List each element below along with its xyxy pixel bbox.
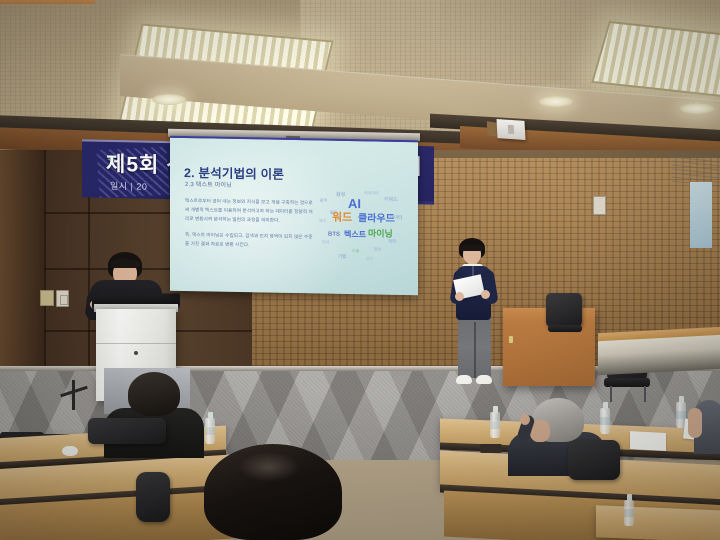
downlight: [152, 94, 186, 105]
air-conditioner-icon: [672, 149, 720, 186]
slide-paragraph-1: 텍스트로부터 얻어 내는 정보와 지식을 보고 개념 구축하는 것으로써 개별적…: [185, 196, 315, 226]
podium-seam: [96, 343, 176, 344]
banner-subtitle: 일시 | 20: [110, 179, 147, 193]
audience-arm: [688, 408, 702, 438]
audience-hand: [520, 414, 530, 425]
mic-stand: [72, 380, 75, 410]
wordcloud-word: 처리: [388, 240, 396, 245]
wall-switch-icon[interactable]: [593, 196, 606, 215]
face-mask: [62, 446, 78, 456]
chair: [136, 472, 170, 522]
wordcloud-word: 감성: [336, 193, 345, 198]
slide-paragraph-2: 즉, 텍스트 마이닝은 수집되고, 검색과 인지 영역이 되지 않은 수준을 가…: [185, 230, 315, 251]
wordcloud-word-primary: 클라우드: [358, 214, 395, 225]
audience-head: [128, 372, 180, 416]
water-bottle: [624, 500, 634, 526]
water-bottle: [205, 418, 215, 444]
chair-seat: [548, 325, 582, 332]
wordcloud-word-primary: BTS: [328, 232, 340, 238]
lecture-hall-photo: ✦ 제5회 신 일시 | 20 제 2. 분석기법의 이론 2.3 텍스트 마이…: [0, 0, 720, 540]
audience-desk: [596, 505, 720, 540]
downlight: [680, 103, 714, 114]
chair: [88, 418, 166, 444]
presenter-hand-right: [481, 290, 490, 299]
wordcloud-word: 언어: [322, 241, 329, 245]
projection-screen: 2. 분석기법의 이론 2.3 텍스트 마이닝 텍스트로부터 얻어 내는 정보와…: [170, 136, 418, 296]
wordcloud-word: 기법: [338, 255, 346, 260]
water-bottle: [490, 412, 500, 438]
wordcloud-word: 빅데이터: [364, 191, 379, 195]
presenter-shoe-left: [456, 375, 472, 384]
wordcloud-word: 추출: [352, 249, 359, 253]
window-column-light: [690, 182, 712, 248]
water-bottle: [600, 408, 610, 434]
phone: [480, 444, 502, 453]
wordcloud-word: 뉴스: [319, 218, 326, 222]
wordcloud-word: 키워드: [384, 198, 398, 203]
slide-wordcloud: 분석 감성 빅데이터 키워드 뉴스 데이터 언어 처리 기법 연구 추출 정보 …: [318, 188, 410, 268]
wordcloud-word: 정보: [374, 247, 381, 251]
wordcloud-word-primary: 텍스트: [344, 231, 366, 239]
paper-sheet: [630, 431, 666, 451]
rear-desk: [598, 335, 720, 376]
slide-subtitle: 2.3 텍스트 마이닝: [185, 179, 232, 189]
presenter-fringe: [460, 244, 484, 251]
audience-hair-highlight: [238, 452, 300, 482]
wordcloud-word: 분석: [320, 198, 327, 202]
chair: [568, 440, 620, 480]
chair-leg: [644, 386, 646, 402]
wordcloud-word-primary: 마이닝: [368, 229, 393, 238]
chair-leg: [610, 386, 612, 402]
wall-outlet-icon: [56, 290, 69, 307]
presenter-shoe-right: [476, 375, 492, 384]
wordcloud-word-primary: AI: [348, 197, 361, 210]
credenza-top: [0, 0, 98, 4]
wall-speaker-icon: [497, 119, 526, 140]
presenter-fringe: [110, 259, 140, 268]
credenza-lock-icon: [509, 336, 513, 343]
wordcloud-word-primary: 워드: [332, 213, 352, 224]
presenter-leg-seam: [474, 322, 476, 378]
wall-plate-icon: [40, 290, 54, 306]
wordcloud-word: 연구: [366, 257, 373, 261]
slide-body: 텍스트로부터 얻어 내는 정보와 지식을 보고 개념 구축하는 것으로써 개별적…: [185, 196, 315, 256]
presenter-hand-left: [455, 292, 464, 301]
podium-knob-icon: [134, 351, 138, 355]
downlight: [539, 96, 573, 107]
chair: [546, 293, 582, 327]
